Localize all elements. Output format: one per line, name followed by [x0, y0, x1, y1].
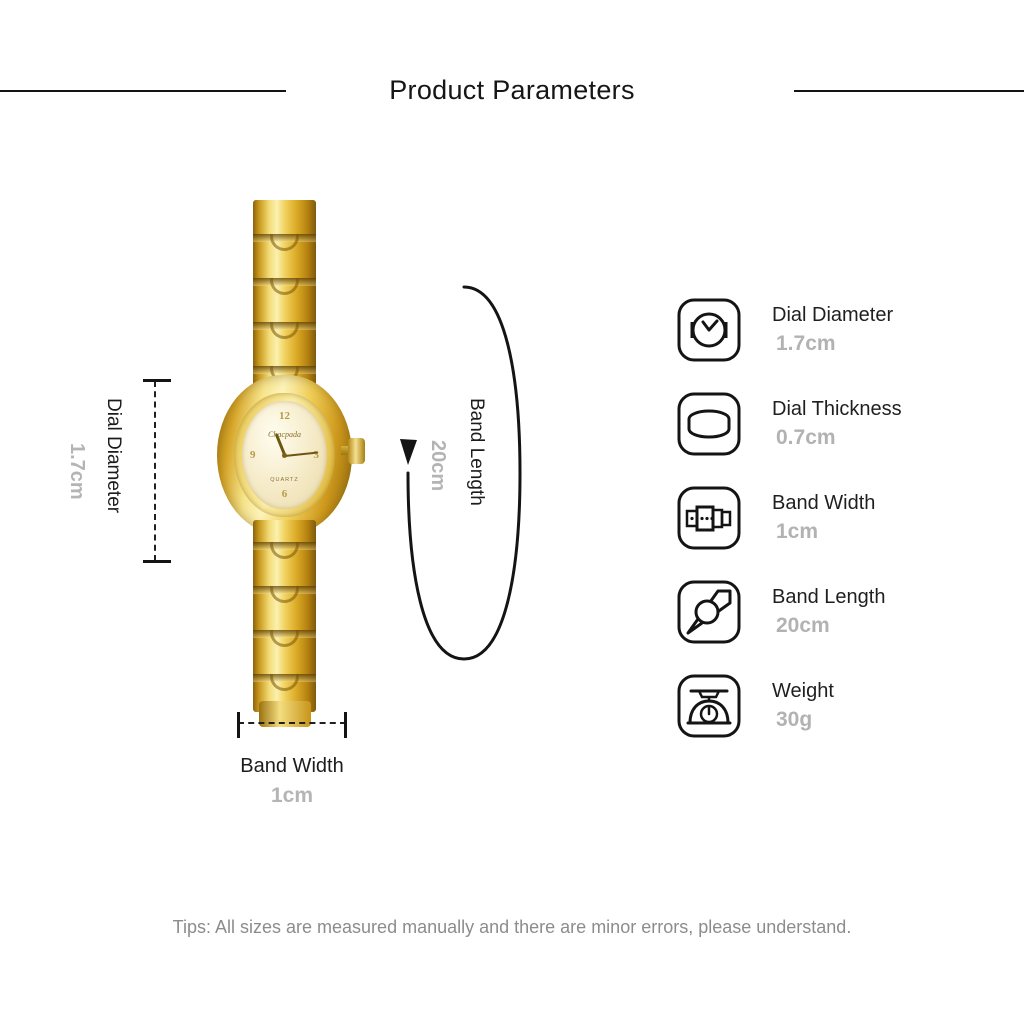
spec-value: 0.7cm [772, 423, 902, 453]
band-length-loop-arrow [398, 283, 530, 663]
watch-product-image: 12 3 6 9 Chacpada QUARTZ [205, 185, 395, 730]
spec-row-dial-thickness: Dial Thickness 0.7cm [676, 391, 1006, 485]
strap-buckle-icon [676, 485, 742, 551]
kitchen-scale-icon [676, 673, 742, 739]
band-length-callout-label: Band Length [465, 398, 487, 506]
dial-diameter-dimension-line [154, 381, 158, 561]
watch-dial: 12 3 6 9 Chacpada QUARTZ [242, 401, 327, 509]
spec-label: Band Width [772, 489, 875, 517]
specification-list: Dial Diameter 1.7cm Dial Thickness 0.7cm [676, 297, 1006, 767]
band-length-callout-value: 20cm [426, 440, 449, 491]
band-link-notch [270, 674, 299, 691]
spec-label: Weight [772, 677, 834, 705]
watch-strap-icon [676, 579, 742, 645]
watch-dial-icon [676, 297, 742, 363]
spec-row-weight: Weight 30g [676, 673, 1006, 767]
hand-pin [282, 453, 287, 458]
dial-brand-script: Chacpada [268, 430, 301, 439]
header-rule-right [794, 90, 1024, 92]
dial-numeral-6: 6 [282, 488, 288, 500]
spec-label: Band Length [772, 583, 885, 611]
spec-row-band-length: Band Length 20cm [676, 579, 1006, 673]
dial-movement-text: QUARTZ [270, 477, 299, 483]
dimension-cap-bottom [143, 560, 171, 563]
dimension-cap-top [143, 379, 171, 382]
spec-row-dial-diameter: Dial Diameter 1.7cm [676, 297, 1006, 391]
dial-numeral-12: 12 [279, 410, 290, 422]
watch-bezel: 12 3 6 9 Chacpada QUARTZ [234, 393, 335, 517]
tips-note: Tips: All sizes are measured manually an… [0, 917, 1024, 938]
band-width-callout-label: Band Width [188, 755, 396, 778]
spec-value: 20cm [772, 611, 885, 641]
spec-value: 1cm [772, 517, 875, 547]
dial-numeral-9: 9 [250, 449, 256, 461]
watch-band-lower [253, 520, 316, 712]
spec-text: Dial Diameter 1.7cm [772, 301, 893, 359]
spec-row-band-width: Band Width 1cm [676, 485, 1006, 579]
spec-text: Band Width 1cm [772, 489, 875, 547]
band-width-dimension-line [238, 722, 346, 726]
loop-arrowhead [400, 439, 417, 465]
band-link-notch [270, 322, 299, 339]
dimension-cap-right [344, 712, 347, 738]
watch-crown [348, 438, 365, 464]
dimension-cap-left [237, 712, 240, 738]
minute-hand [284, 452, 317, 458]
band-width-callout-value: 1cm [188, 784, 396, 808]
spec-text: Weight 30g [772, 677, 834, 735]
band-link-notch [270, 278, 299, 295]
band-link-notch [270, 234, 299, 251]
band-link-notch [270, 586, 299, 603]
spec-label: Dial Diameter [772, 301, 893, 329]
dial-diameter-callout-label: Dial Diameter [102, 398, 124, 513]
watch-band-upper [253, 200, 316, 400]
spec-value: 1.7cm [772, 329, 893, 359]
loop-path [408, 287, 520, 659]
band-link-notch [270, 630, 299, 647]
spec-text: Band Length 20cm [772, 583, 885, 641]
spec-label: Dial Thickness [772, 395, 902, 423]
spec-text: Dial Thickness 0.7cm [772, 395, 902, 453]
product-parameters-infographic: Product Parameters Dial Diameter 1.7cm 1… [0, 0, 1024, 1024]
spec-value: 30g [772, 705, 834, 735]
band-link-notch [270, 542, 299, 559]
header: Product Parameters [0, 70, 1024, 114]
disc-thickness-icon [676, 391, 742, 457]
watch-case: 12 3 6 9 Chacpada QUARTZ [217, 375, 352, 535]
dial-diameter-callout-value: 1.7cm [65, 443, 88, 500]
